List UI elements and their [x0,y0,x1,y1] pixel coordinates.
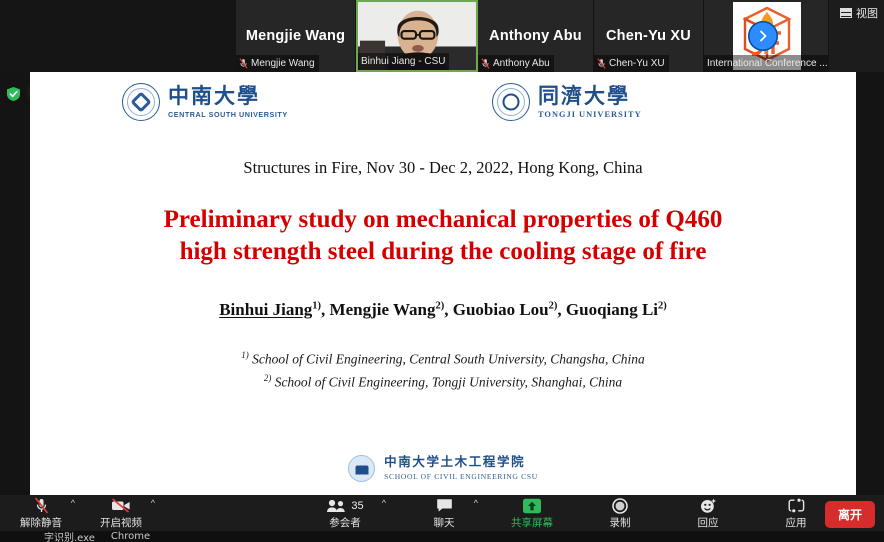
slide-footer-logo: 中南大学土木工程学院 SCHOOL OF CIVIL ENGINEERING C… [30,455,856,482]
chat-bubble-icon [436,497,453,514]
toolbar-chat-label: 聊天 [434,515,455,530]
os-taskbar: 字识别.exe Chrome [0,531,884,542]
view-button-label: 视图 [856,5,878,21]
encryption-shield-icon [6,86,21,102]
slide-title-line1: Preliminary study on mechanical properti… [90,204,796,236]
toolbar-participants-button[interactable]: 35 参会者 ^ [318,496,372,530]
chevron-up-icon[interactable]: ^ [71,499,75,508]
participant-footer-label: Binhui Jiang - CSU [361,56,445,67]
participant-footer-label: International Conference ... [707,58,828,69]
taskbar-item[interactable]: Chrome [111,531,150,542]
record-circle-icon [612,497,628,514]
toolbar-share-screen-label: 共享屏幕 [511,515,553,530]
toolbar-share-screen-button[interactable]: 共享屏幕 [505,496,559,530]
csu-logo-en: CENTRAL SOUTH UNIVERSITY [168,110,288,119]
chevron-up-icon[interactable]: ^ [474,499,478,508]
toolbar-video-button[interactable]: 开启视频 ^ [94,496,148,530]
author-name: Mengjie Wang [330,300,436,319]
grid-view-icon [840,8,852,18]
affiliation-item: 1) School of Civil Engineering, Central … [30,348,856,371]
affiliation-text: School of Civil Engineering, Central Sou… [252,352,645,367]
toolbar-video-label: 开启视频 [100,515,142,530]
participant-footer-label: Anthony Abu [493,58,550,69]
participant-filmstrip: Mengjie Wang Mengjie Wang [0,0,884,72]
toolbar-apps-label: 应用 [786,515,807,530]
toolbar-record-button[interactable]: 录制 [593,496,647,530]
chevron-up-icon[interactable]: ^ [382,499,386,508]
view-mode-button[interactable]: 视图 [840,5,878,21]
chevron-right-icon [756,29,770,43]
participant-footer: Chen-Yu XU [594,55,669,72]
microphone-off-icon [239,58,248,69]
next-page-arrow-button[interactable] [748,21,778,51]
participants-count: 35 [351,500,363,512]
participant-footer: Anthony Abu [478,55,554,72]
csu-seal-icon [122,83,160,121]
microphone-off-icon [34,497,49,514]
toolbar-mute-button[interactable]: 解除静音 ^ [14,496,68,530]
chevron-up-icon[interactable]: ^ [151,499,155,508]
toolbar-chat-button[interactable]: 聊天 ^ [417,496,471,530]
participant-name: Anthony Abu [489,28,582,44]
author-sup: 2) [549,300,558,311]
participant-tile-mengjie-wang[interactable]: Mengjie Wang Mengjie Wang [236,0,356,72]
toolbar-apps-button[interactable]: 应用 [769,496,823,530]
microphone-off-icon [597,58,606,69]
participant-tile-chen-yu-xu[interactable]: Chen-Yu XU Chen-Yu XU [594,0,704,72]
apps-icon [788,497,805,514]
author-name: Binhui Jiang [219,300,312,319]
author-sup: 1) [312,300,321,311]
toolbar-reactions-label: 回应 [698,515,719,530]
affiliation-item: 2) School of Civil Engineering, Tongji U… [30,371,856,394]
participant-footer: International Conference ... [704,55,828,72]
tongji-logo-cn: 同濟大學 [538,86,642,107]
share-screen-icon [522,497,542,514]
participant-tile-anthony-abu[interactable]: Anthony Abu Anthony Abu [478,0,594,72]
zoom-meeting-window: Mengjie Wang Mengjie Wang [0,0,884,542]
tongji-logo-en: TONGJI UNIVERSITY [538,110,642,119]
shared-screen-stage: 中南大學 CENTRAL SOUTH UNIVERSITY 同濟大學 TONGJ… [0,72,884,495]
leave-meeting-button[interactable]: 离开 [825,501,875,528]
presentation-slide[interactable]: 中南大學 CENTRAL SOUTH UNIVERSITY 同濟大學 TONGJ… [30,72,856,495]
slide-title: Preliminary study on mechanical properti… [30,204,856,268]
participants-icon: 35 [326,497,363,514]
conference-line: Structures in Fire, Nov 30 - Dec 2, 2022… [30,158,856,178]
affiliation-text: School of Civil Engineering, Tongji Univ… [275,374,623,389]
toolbar-mute-label: 解除静音 [20,515,62,530]
toolbar-participants-label: 参会者 [329,515,361,530]
affiliation-sup: 2) [264,373,272,383]
slide-footer-cn: 中南大学土木工程学院 [384,456,538,469]
author-name: Guobiao Lou [453,300,549,319]
slide-title-line2: high strength steel during the cooling s… [90,236,796,268]
slide-footer-en: SCHOOL OF CIVIL ENGINEERING CSU [384,472,538,481]
author-sup: 2) [658,300,667,311]
author-sup: 2) [435,300,444,311]
camera-off-icon [111,497,131,514]
tongji-seal-icon [492,83,530,121]
participant-name: Mengjie Wang [246,28,345,44]
participant-tile-empty[interactable] [0,0,236,72]
toolbar-reactions-button[interactable]: 回应 [681,496,735,530]
participant-tile-binhui-jiang[interactable]: Binhui Jiang - CSU [356,0,478,72]
csu-logo-cn: 中南大學 [168,86,288,107]
participant-name: Chen-Yu XU [606,28,691,44]
taskbar-item[interactable]: 字识别.exe [44,531,95,542]
meeting-toolbar: 解除静音 ^ 开启视频 ^ 35 [0,495,884,531]
smiley-reaction-icon [700,497,717,514]
author-name: Guoqiang Li [566,300,658,319]
participant-footer-label: Chen-Yu XU [609,58,665,69]
participant-footer: Mengjie Wang [236,55,319,72]
microphone-off-icon [481,58,490,69]
author-list: Binhui Jiang1), Mengjie Wang2), Guobiao … [30,300,856,320]
affiliation-list: 1) School of Civil Engineering, Central … [30,348,856,394]
participant-footer-label: Mengjie Wang [251,58,315,69]
csu-civil-seal-icon [348,455,375,482]
tongji-university-logo: 同濟大學 TONGJI UNIVERSITY [492,83,642,121]
toolbar-record-label: 录制 [610,515,631,530]
slide-header: 中南大學 CENTRAL SOUTH UNIVERSITY 同濟大學 TONGJ… [30,72,856,134]
affiliation-sup: 1) [241,350,249,360]
participant-footer: Binhui Jiang - CSU [358,53,449,70]
central-south-university-logo: 中南大學 CENTRAL SOUTH UNIVERSITY [122,83,288,121]
